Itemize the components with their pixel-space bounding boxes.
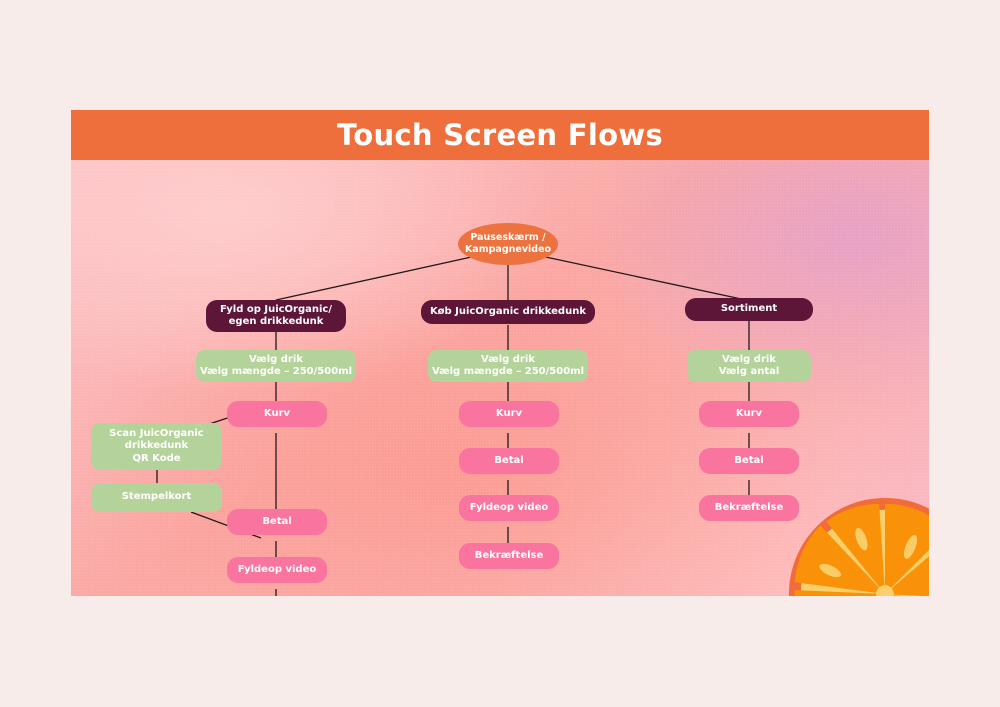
node-root[interactable]: Pauseskærm / Kampagnevideo [458, 223, 558, 265]
flowchart-board: Pauseskærm / Kampagnevideo Fyld op JuicO… [71, 160, 929, 596]
node-b2-betal[interactable]: Betal [459, 448, 559, 474]
node-b2-bekraeftelse[interactable]: Bekræftelse [459, 543, 559, 569]
node-b2-fyldeop-video[interactable]: Fyldeop video [459, 495, 559, 521]
node-b1-vaelg-drik[interactable]: Vælg drik Vælg mængde – 250/500ml [196, 350, 356, 382]
branch-header-koeb[interactable]: Køb JuicOrganic drikkedunk [421, 300, 595, 324]
node-b1-scan-qr[interactable]: Scan JuicOrganic drikkedunk QR Kode [91, 423, 222, 470]
node-b2-kurv[interactable]: Kurv [459, 401, 559, 427]
node-b1-stempelkort[interactable]: Stempelkort [91, 483, 222, 512]
title-banner: Touch Screen Flows [71, 110, 929, 160]
node-b3-bekraeftelse[interactable]: Bekræftelse [699, 495, 799, 521]
branch-header-fyld-op[interactable]: Fyld op JuicOrganic/ egen drikkedunk [206, 300, 346, 332]
node-b1-fyldeop-video[interactable]: Fyldeop video [227, 557, 327, 583]
orange-slice-icon [787, 496, 929, 596]
page-title: Touch Screen Flows [337, 118, 663, 152]
node-b3-vaelg-drik[interactable]: Vælg drik Vælg antal [687, 350, 811, 382]
node-b2-vaelg-drik[interactable]: Vælg drik Vælg mængde – 250/500ml [428, 350, 588, 382]
node-b1-betal[interactable]: Betal [227, 509, 327, 535]
node-b1-kurv[interactable]: Kurv [227, 401, 327, 427]
branch-header-sortiment[interactable]: Sortiment [685, 298, 813, 321]
node-b3-kurv[interactable]: Kurv [699, 401, 799, 427]
node-b3-betal[interactable]: Betal [699, 448, 799, 474]
diagram-canvas: Touch Screen Flows [71, 110, 929, 596]
